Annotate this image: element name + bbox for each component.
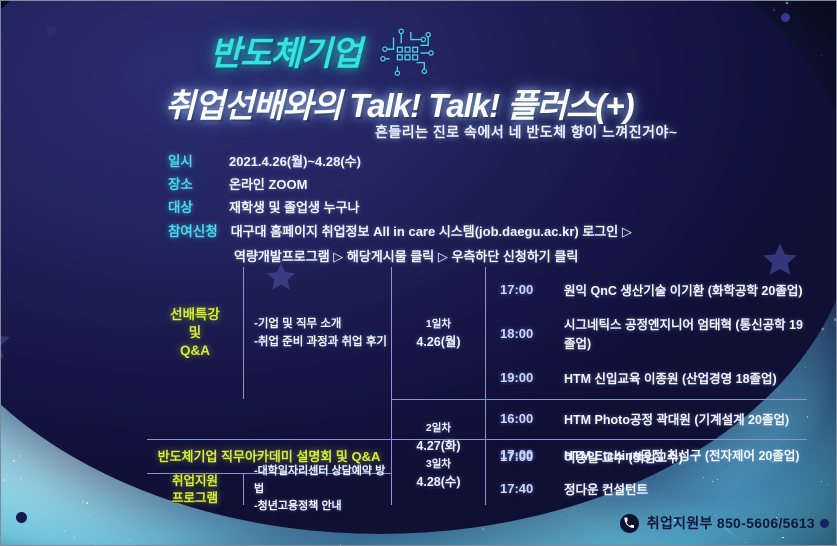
info-label-date: 일시 — [168, 153, 216, 171]
info-value-apply: 대구대 홈페이지 취업정보 All in care 시스템(job.daegu.… — [231, 223, 632, 241]
decorative-dot-top-right — [781, 13, 790, 22]
group1-label-line2: 및 — [170, 324, 220, 342]
session-time: 16:00 — [500, 411, 554, 426]
session-row: 17:00 원익 QnC 생산기술 이기환 (화학공학 20졸업) — [486, 267, 807, 311]
info-row-date: 일시 2021.4.26(월)~4.28(수) — [168, 153, 728, 171]
day3-label: 3일차 — [426, 458, 451, 470]
schedule-group-label-support: 취업지원 프로그램 — [147, 473, 243, 505]
schedule-day1-cell: 1일차 4.26(월) — [391, 267, 485, 399]
phone-glyph-icon — [623, 517, 635, 529]
decorative-dot-bottom-right — [820, 519, 829, 528]
group2-label-line2: 프로그램 — [172, 490, 218, 507]
group1-desc-line1: -기업 및 직무 소개 — [254, 315, 391, 333]
session-row: 19:00 HTM 신입교육 이종원 (산업경영 18졸업) — [486, 355, 807, 399]
info-apply-steps: 역량개발프로그램 ▷ 해당게시물 클릭 ▷ 우측하단 신청하기 클릭 — [234, 246, 728, 265]
info-value-date: 2021.4.26(월)~4.28(수) — [229, 153, 361, 171]
session-time: 17:40 — [500, 481, 554, 496]
schedule-group-desc-support: -대학일자리센터 상담예약 방법 -청년고용정책 안내 — [243, 473, 391, 505]
info-value-place: 온라인 ZOOM — [229, 176, 308, 194]
info-row-apply: 참여신청 대구대 홈페이지 취업정보 All in care 시스템(job.d… — [168, 223, 728, 241]
schedule-day3-sessions: 17:00 이승일 교수 (책임교수) 17:40 정다운 컨설턴트 — [485, 439, 807, 505]
info-label-place: 장소 — [168, 176, 216, 194]
schedule-table: 선배특강 및 Q&A -기업 및 직무 소개 -취업 준비 과정과 취업 후기 … — [147, 267, 807, 505]
group1-label-line3: Q&A — [170, 342, 220, 360]
session-row: 18:00 시그네틱스 공정엔지니어 엄태혁 (통신공학 19졸업) — [486, 311, 807, 355]
session-row: 17:40 정다운 컨설턴트 — [486, 473, 807, 506]
session-detail: HTM 신입교육 이종원 (산업경영 18졸업) — [564, 368, 777, 387]
session-detail: 이승일 교수 (책임교수) — [564, 447, 683, 466]
day1-date: 4.26(월) — [416, 333, 460, 352]
decorative-dot-bottom-left — [16, 512, 27, 523]
phone-icon — [620, 514, 639, 533]
tagline: 흔들리는 진로 속에서 네 반도체 향이 느껴진거야~ — [375, 122, 678, 142]
info-label-apply: 참여신청 — [168, 223, 218, 241]
session-row: 17:00 이승일 교수 (책임교수) — [486, 440, 807, 473]
schedule-day1-sessions: 17:00 원익 QnC 생산기술 이기환 (화학공학 20졸업) 18:00 … — [485, 267, 807, 399]
session-detail: 원익 QnC 생산기술 이기환 (화학공학 20졸업) — [564, 280, 802, 299]
info-label-target: 대상 — [168, 199, 216, 217]
contact-text: 취업지원부 850-5606/5613 — [647, 513, 815, 533]
session-detail: 정다운 컨설턴트 — [564, 479, 648, 498]
session-time: 18:00 — [500, 326, 554, 341]
group2-label-line1: 취업지원 — [172, 473, 218, 490]
event-poster: 반도체기업 취업선배와의 Talk! Talk! — [0, 0, 837, 546]
session-row: 16:00 HTM Photo공정 곽대원 (기계설계 20졸업) — [486, 400, 807, 437]
group2-desc-line1: -대학일자리센터 상담예약 방법 — [254, 463, 391, 498]
schedule-day3-cell: 3일차 4.28(수) — [391, 439, 485, 505]
contact-footer: 취업지원부 850-5606/5613 — [620, 513, 815, 533]
info-row-place: 장소 온라인 ZOOM — [168, 176, 728, 194]
session-detail: HTM Photo공정 곽대원 (기계설계 20졸업) — [564, 409, 789, 428]
day2-label: 2일차 — [426, 422, 451, 434]
info-value-target: 재학생 및 졸업생 누구나 — [229, 199, 359, 217]
session-time: 17:00 — [500, 449, 554, 464]
page-title-cyan: 반도체기업 — [210, 26, 361, 75]
circuit-chip-icon — [378, 28, 436, 78]
group1-desc-line2: -취업 준비 과정과 취업 후기 — [254, 333, 391, 351]
info-row-target: 대상 재학생 및 졸업생 누구나 — [168, 199, 728, 217]
page-title-main: 취업선배와의 Talk! Talk! 플러스(+) — [165, 79, 634, 127]
group2-desc-line2: -청년고용정책 안내 — [254, 498, 391, 516]
schedule-group-label-lecture: 선배특강 및 Q&A — [147, 267, 243, 399]
day1-label: 1일차 — [426, 318, 451, 330]
session-detail: 시그네틱스 공정엔지니어 엄태혁 (통신공학 19졸업) — [564, 314, 807, 352]
event-info-block: 일시 2021.4.26(월)~4.28(수) 장소 온라인 ZOOM 대상 재… — [168, 153, 728, 265]
session-time: 17:00 — [500, 282, 554, 297]
decorative-dot-top-left — [46, 26, 56, 36]
day3-date: 4.28(수) — [416, 473, 460, 492]
session-time: 19:00 — [500, 370, 554, 385]
schedule-group-desc-lecture: -기업 및 직무 소개 -취업 준비 과정과 취업 후기 — [243, 267, 391, 399]
group1-label-line1: 선배특강 — [170, 306, 220, 324]
